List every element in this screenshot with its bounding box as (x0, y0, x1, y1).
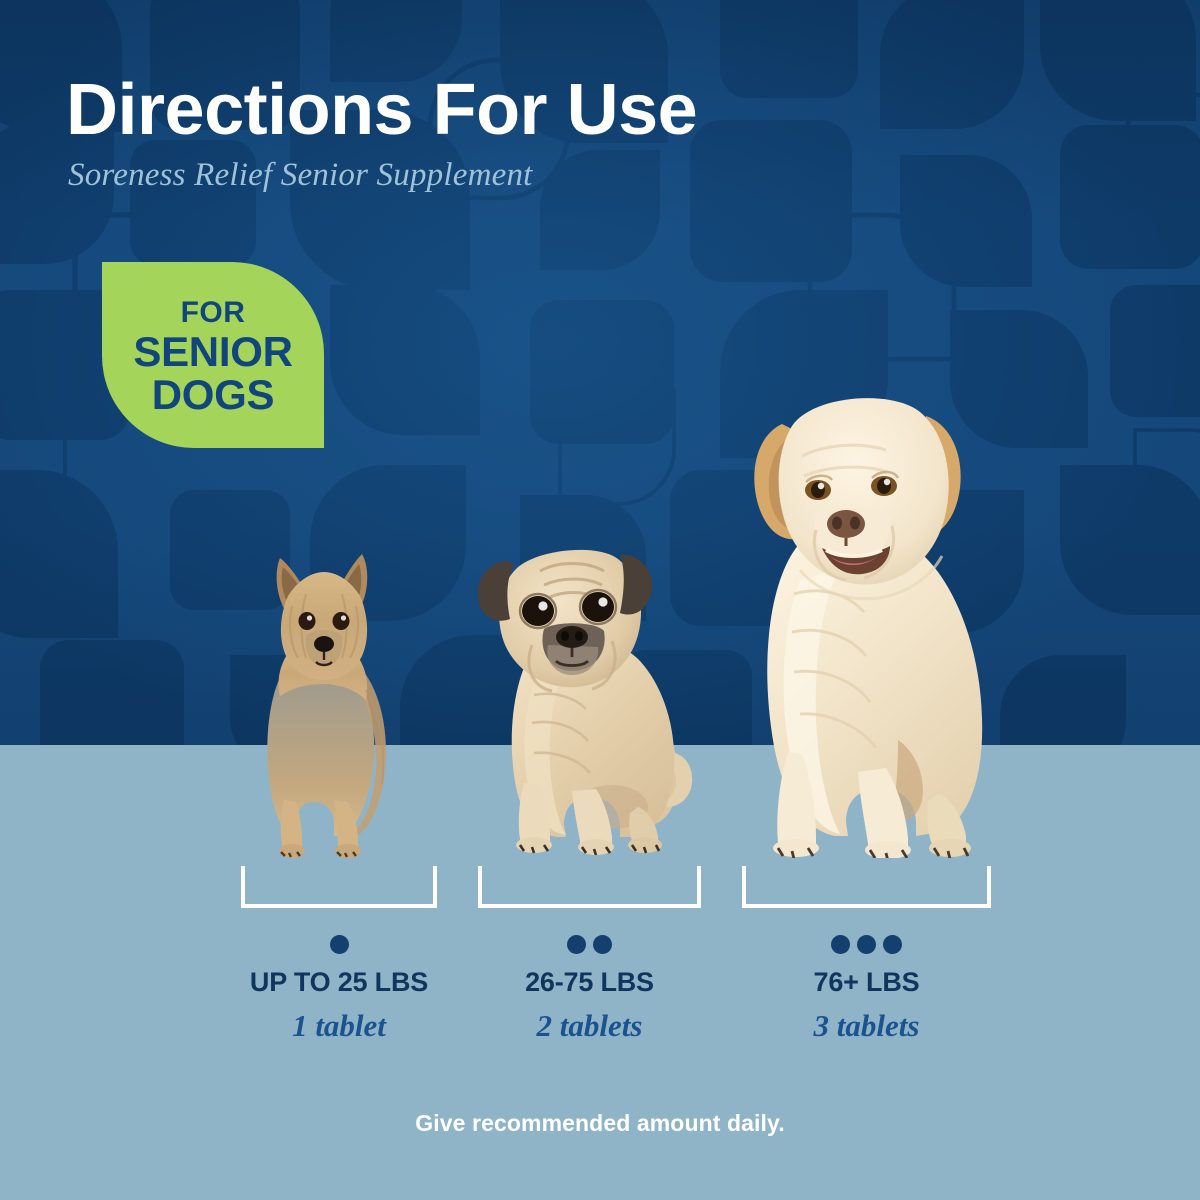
tablet-dot (567, 935, 586, 954)
tablet-dot (857, 935, 876, 954)
page-subtitle: Soreness Relief Senior Supplement (68, 159, 697, 192)
size-bracket-medium (478, 866, 701, 908)
directions-for-use-poster: Directions For Use Soreness Relief Senio… (0, 0, 1200, 1200)
for-senior-dogs-badge: FOR SENIOR DOGS (102, 262, 324, 448)
tablet-dots-large (742, 935, 991, 955)
dosage-column-small: UP TO 25 LBS 1 tablet (241, 866, 437, 1041)
weight-label-small: UP TO 25 LBS (241, 969, 437, 996)
tablet-dot (330, 935, 349, 954)
dosage-column-large: 76+ LBS 3 tablets (742, 866, 991, 1041)
tablet-count-small: 1 tablet (241, 1010, 437, 1041)
dosage-column-medium: 26-75 LBS 2 tablets (478, 866, 701, 1041)
tablet-dot (883, 935, 902, 954)
tablet-count-medium: 2 tablets (478, 1010, 701, 1041)
header: Directions For Use Soreness Relief Senio… (66, 74, 697, 192)
footnote-text: Give recommended amount daily. (0, 1110, 1200, 1137)
weight-label-large: 76+ LBS (742, 969, 991, 996)
weight-label-medium: 26-75 LBS (478, 969, 701, 996)
tablet-dot (831, 935, 850, 954)
size-bracket-large (742, 866, 991, 908)
badge-line-senior: SENIOR (133, 330, 292, 374)
tablet-dots-medium (478, 935, 701, 955)
size-bracket-small (241, 866, 437, 908)
page-title: Directions For Use (66, 74, 697, 146)
tablet-dots-small (241, 935, 437, 955)
tablet-count-large: 3 tablets (742, 1010, 991, 1041)
tablet-dot (593, 935, 612, 954)
badge-line-for: FOR (181, 297, 246, 329)
badge-line-dogs: DOGS (152, 373, 274, 417)
